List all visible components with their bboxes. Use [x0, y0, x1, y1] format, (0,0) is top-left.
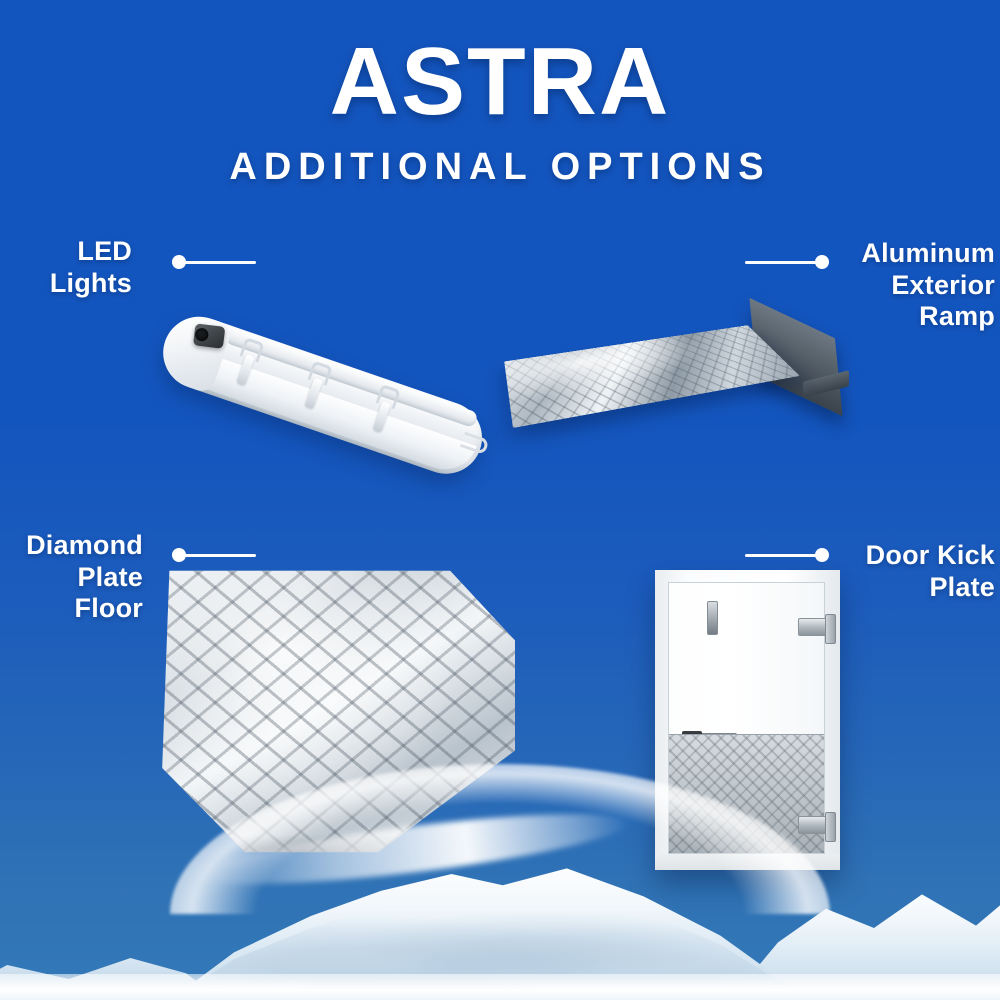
page-title: ASTRA [0, 34, 1000, 130]
led-fixture [156, 308, 491, 484]
door-top-latch [707, 601, 718, 635]
poster-canvas: ASTRA ADDITIONAL OPTIONS LED Lights Alum… [0, 0, 1000, 1000]
product-image-aluminum-exterior-ramp [505, 258, 855, 443]
ramp-tread-surface [504, 325, 800, 428]
snow-base-ground [0, 974, 1000, 1000]
door-hinge-top [798, 618, 832, 636]
connector-line-icon [179, 554, 256, 557]
page-subtitle: ADDITIONAL OPTIONS [0, 148, 1000, 186]
led-cable-gland [193, 323, 225, 348]
snow-ice-scene [0, 770, 1000, 1000]
connector-dot-icon [815, 548, 829, 562]
callout-label-led-lights: LED Lights [0, 236, 132, 299]
callout-label-diamond-plate-floor: Diamond Plate Floor [0, 530, 143, 625]
poster-header: ASTRA ADDITIONAL OPTIONS [0, 0, 1000, 186]
connector-door-kick-plate [745, 548, 829, 562]
connector-diamond-plate-floor [172, 548, 256, 562]
connector-line-icon [745, 554, 822, 557]
product-image-led-lights [150, 262, 530, 442]
